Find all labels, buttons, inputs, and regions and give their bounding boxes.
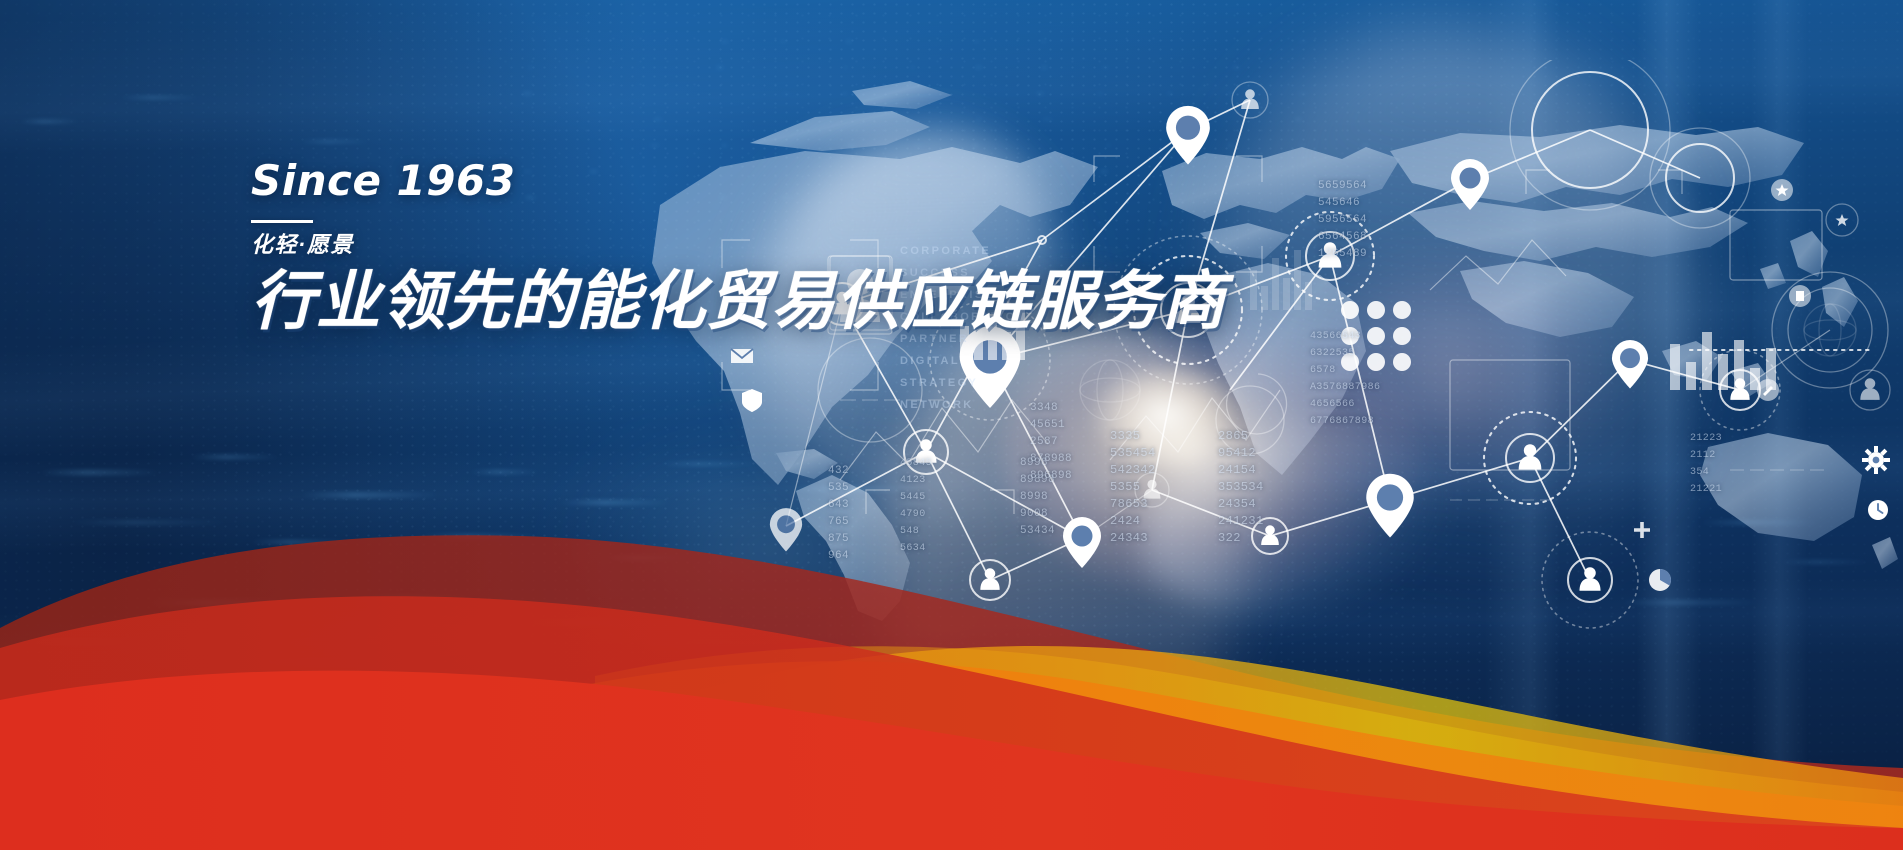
hero-banner: .ln { stroke:#ffffff; stroke-opacity:.85… <box>0 0 1903 850</box>
divider-rule <box>251 220 313 223</box>
vision-label: 化轻·愿景 <box>251 234 1011 256</box>
page-title: 行业领先的能化贸易供应链服务商 <box>251 268 1011 336</box>
since-label: Since 1963 <box>251 160 1011 202</box>
wave-graphics <box>0 0 1903 850</box>
hero-copy-block: Since 1963 化轻·愿景 行业领先的能化贸易供应链服务商 <box>251 160 1011 336</box>
